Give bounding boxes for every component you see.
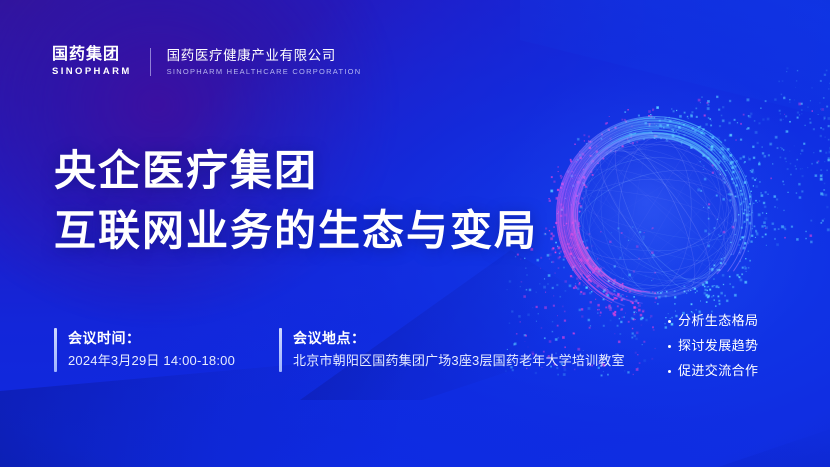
background-vignette — [0, 0, 830, 467]
poster-canvas: 国药集团 SINOPHARM 国药医疗健康产业有限公司 SINOPHARM HE… — [0, 0, 830, 467]
